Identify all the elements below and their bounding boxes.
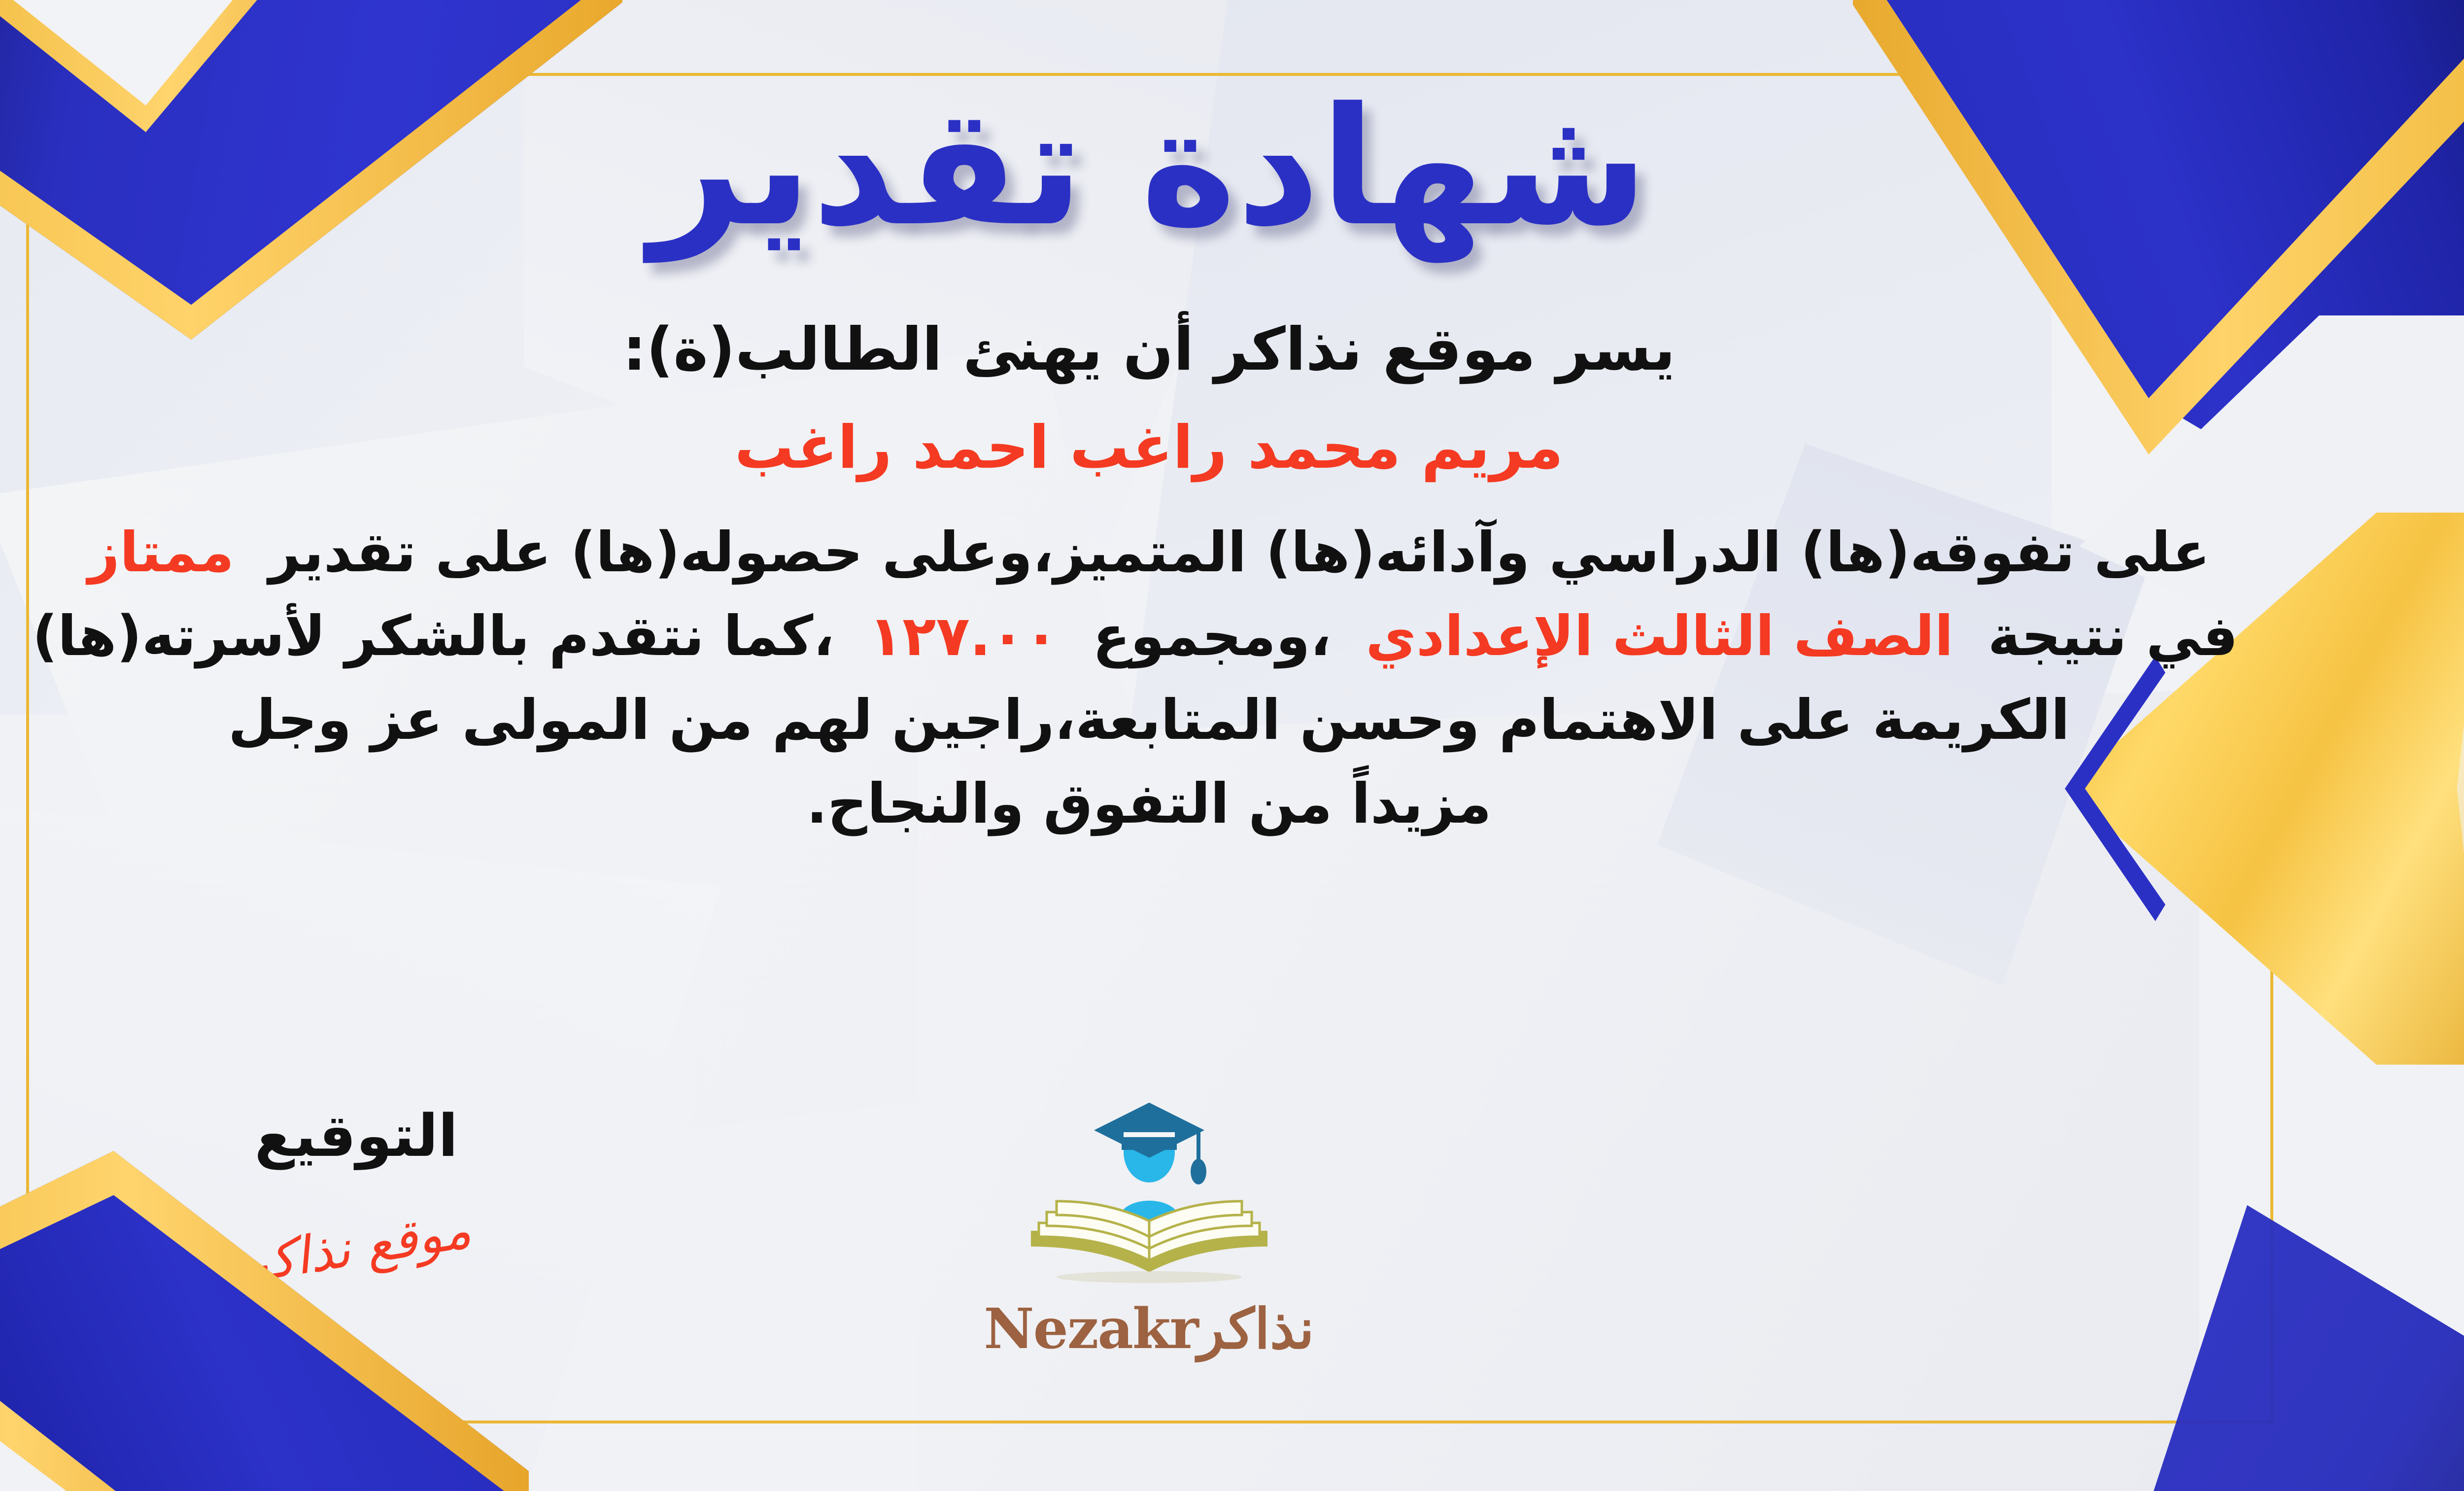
certificate-canvas: شهادة تقدير يسر موقع نذاكر أن يهنئ الطال…: [0, 0, 2464, 1491]
thanks-prefix: ،كما نتقدم بالشكر لأسرته(ها): [33, 604, 834, 668]
total-prefix: ،ومجموع: [1093, 604, 1331, 668]
body-line-2: في نتيجةالصف الثالث الإعدادي،ومجموع١٢٧.٠…: [60, 594, 2238, 678]
body-line-3: الكريمة على الاهتمام وحسن المتابعة،راجين…: [60, 678, 2238, 762]
result-prefix: في نتيجة: [1988, 604, 2238, 668]
student-name: مريم محمد راغب احمد راغب: [735, 414, 1564, 482]
total-score-value: ١٢٧.٠٠: [869, 604, 1058, 668]
achievement-text: على تفوقه(ها) الدراسي وآدائه(ها) المتميز…: [269, 520, 2210, 585]
grade-value: ممتاز: [88, 520, 234, 585]
body-line-4: مزيداً من التفوق والنجاح.: [60, 762, 2238, 846]
body-line-1: على تفوقه(ها) الدراسي وآدائه(ها) المتميز…: [60, 511, 2238, 594]
certificate-body: على تفوقه(ها) الدراسي وآدائه(ها) المتميز…: [60, 511, 2238, 846]
certificate-title: شهادة تقدير: [650, 74, 1648, 261]
certificate-content: شهادة تقدير يسر موقع نذاكر أن يهنئ الطال…: [0, 0, 2464, 1491]
stage-value: الصف الثالث الإعدادي: [1366, 604, 1953, 668]
greeting-line: يسر موقع نذاكر أن يهنئ الطالب(ة):: [622, 315, 1675, 384]
